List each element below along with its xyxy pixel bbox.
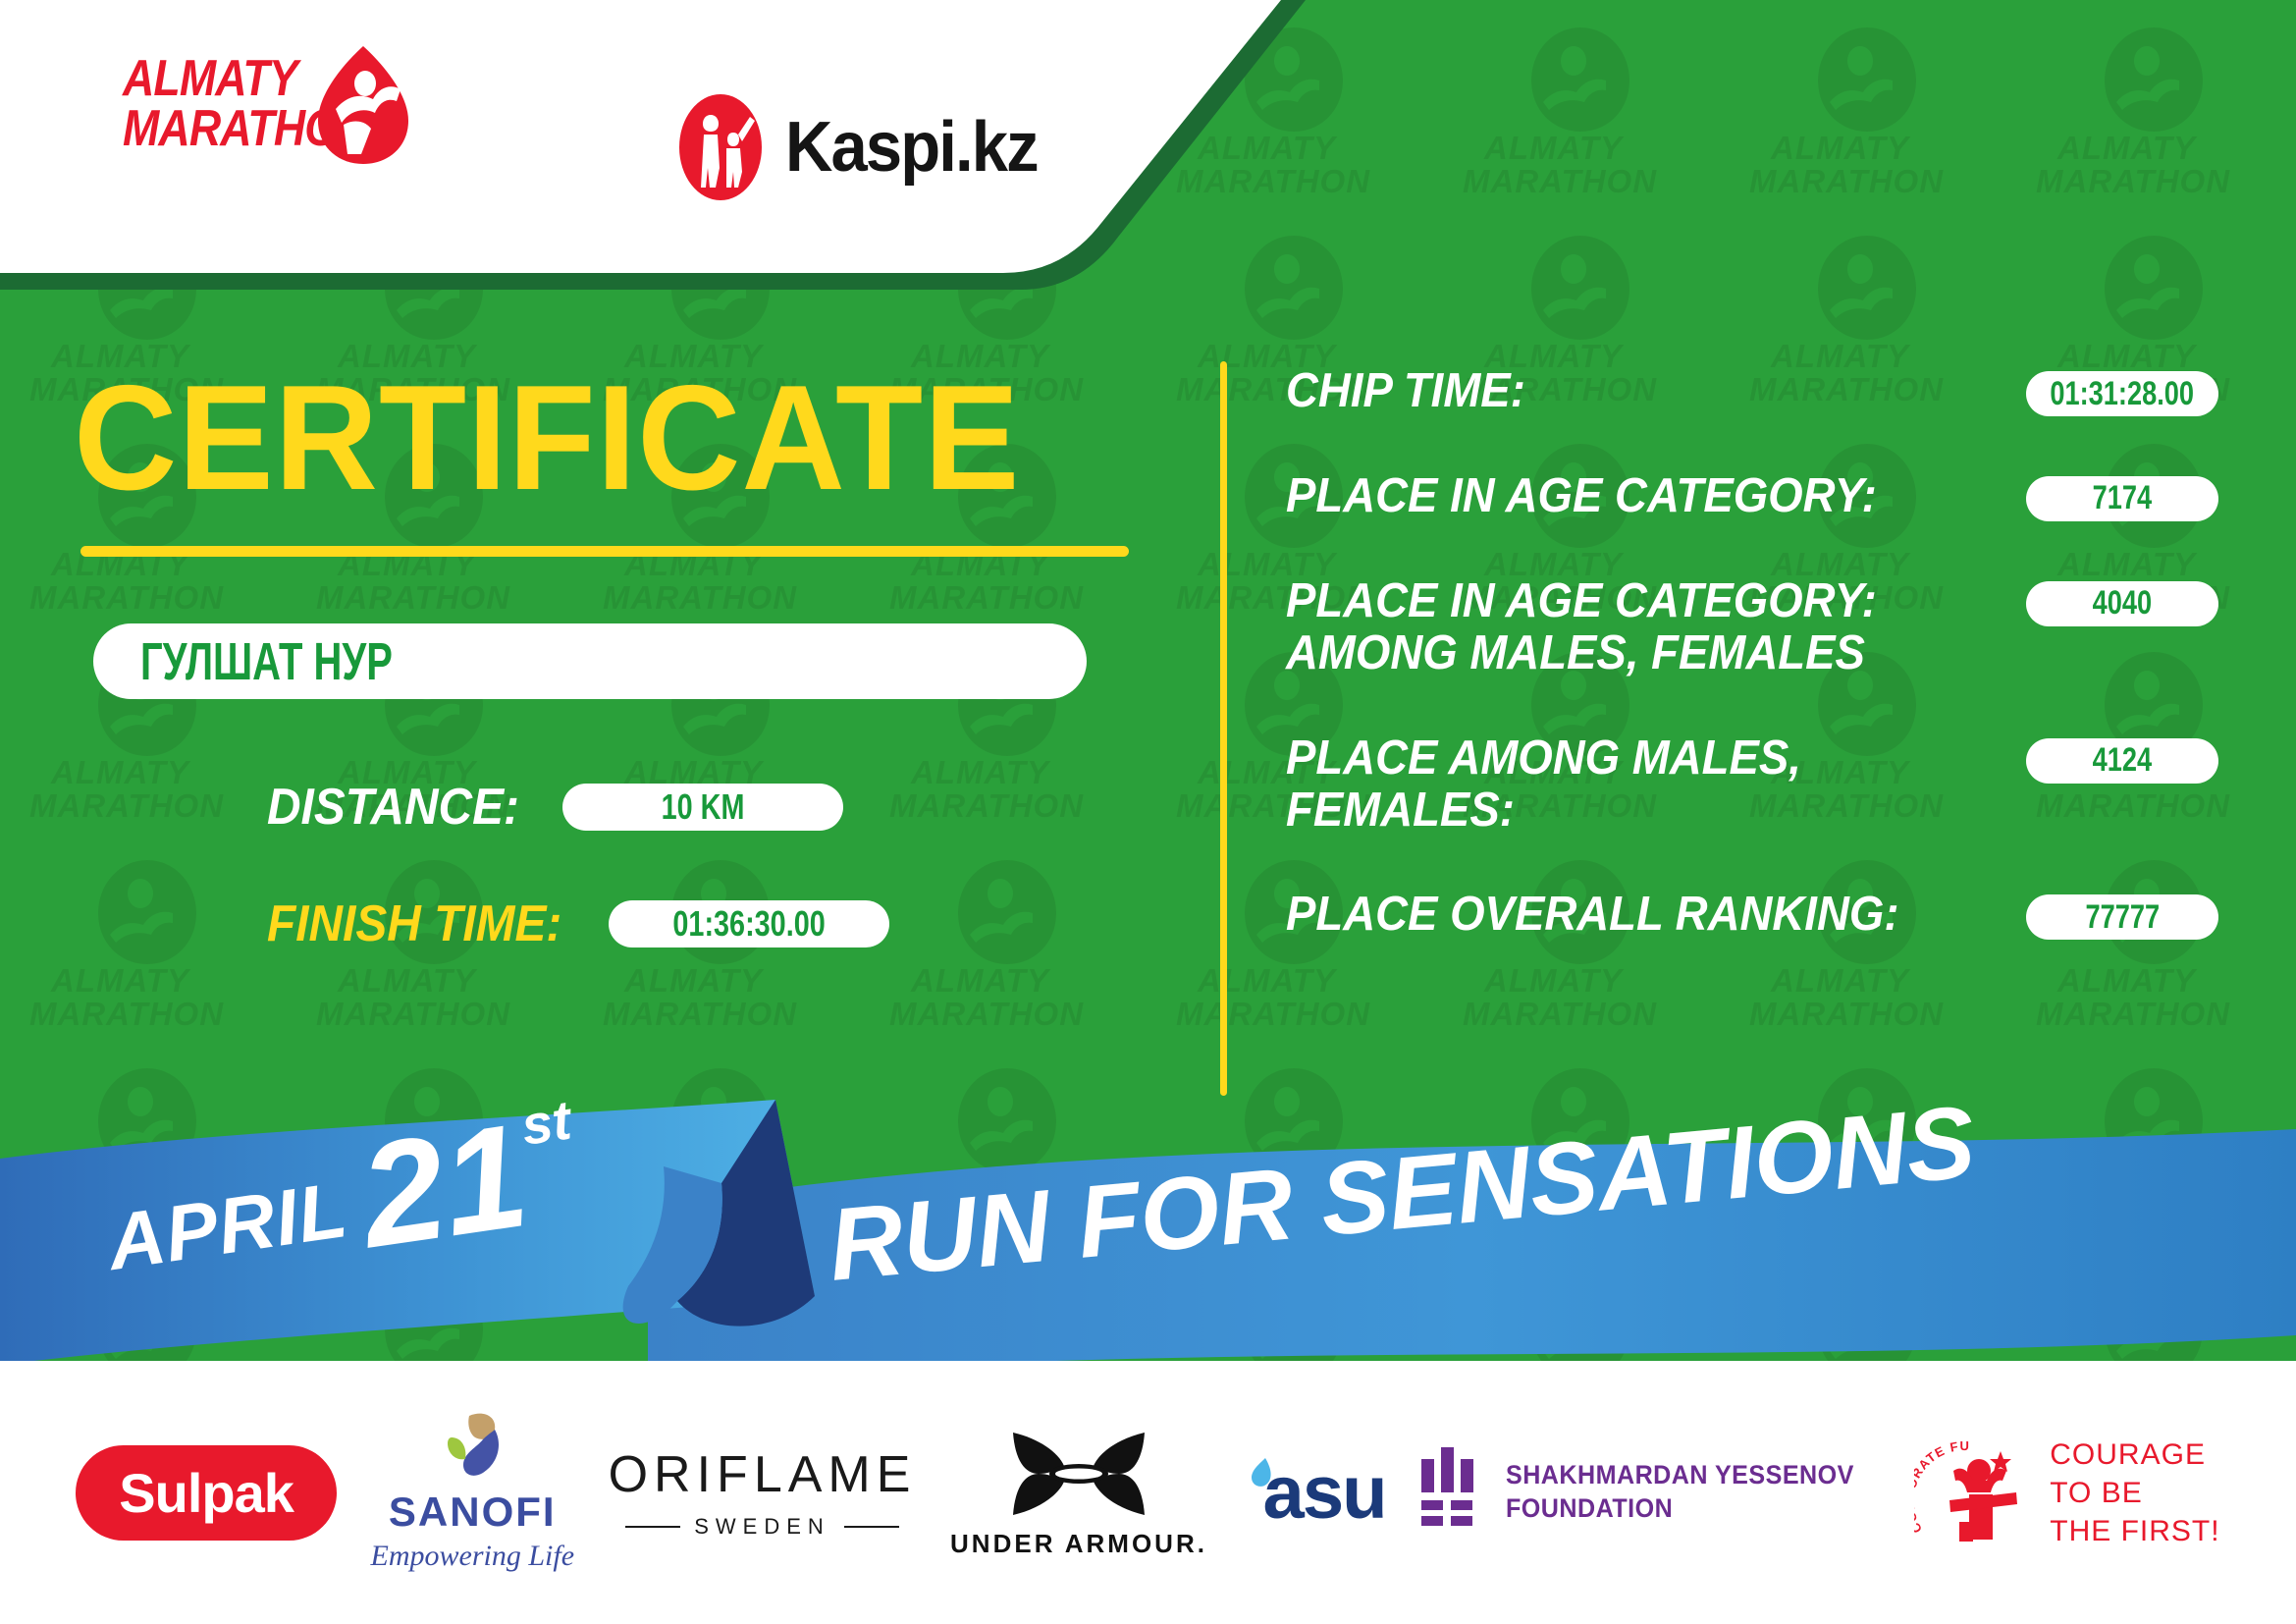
place-among-gender-value-pill: 4124 <box>2026 738 2218 784</box>
place-age-category-label: PLACE IN AGE CATEGORY: <box>1286 470 1877 522</box>
place-age-category-gender-label: PLACE IN AGE CATEGORY: AMONG MALES, FEMA… <box>1286 575 1925 679</box>
sponsor-courage-to-be-first: CORPORATE FUND COURAGE TO BE THE FIRST! <box>1914 1435 2219 1550</box>
place-age-category-gender-value-pill: 4040 <box>2026 581 2218 626</box>
event-day-ordinal: st <box>517 1087 575 1157</box>
distance-value-pill: 10 KM <box>562 784 843 831</box>
event-date: APRIL 21 st <box>96 1087 586 1294</box>
participant-name: ГУЛШАТ НУР <box>140 631 393 692</box>
runner-drop-icon <box>314 44 412 167</box>
sponsor-asu: asu <box>1242 1450 1386 1536</box>
oriflame-wordmark: ORIFLAME <box>609 1445 917 1504</box>
vertical-divider <box>1220 361 1227 1096</box>
sponsor-sulpak: Sulpak <box>76 1445 337 1541</box>
sanofi-icon <box>430 1412 514 1485</box>
event-slogan: RUN FOR SENSATIONS <box>825 1084 1980 1305</box>
yessenov-line1: SHAKHMARDAN YESSENOV <box>1506 1459 1854 1492</box>
stat-row: CHIP TIME: 01:31:28.00 <box>1286 365 2218 417</box>
stat-row: PLACE AMONG MALES, FEMALES: 4124 <box>1286 732 2218 837</box>
courage-wordmark: COURAGE TO BE THE FIRST! <box>2050 1435 2219 1550</box>
certificate-left-column: CERTIFICATE ГУЛШАТ НУР DISTANCE: 10 KM F… <box>0 324 1207 955</box>
courage-runner-icon: CORPORATE FUND <box>1914 1437 2034 1547</box>
sponsor-under-armour: UNDER ARMOUR. <box>950 1427 1207 1559</box>
oriflame-rule-right <box>844 1526 899 1528</box>
place-age-category-gender-value: 4040 <box>2093 584 2153 623</box>
svg-text:CORPORATE FUND: CORPORATE FUND <box>1914 1437 1970 1536</box>
sponsor-yessenov-foundation: SHAKHMARDAN YESSENOV FOUNDATION <box>1419 1447 1881 1538</box>
place-age-category-value: 7174 <box>2093 479 2153 517</box>
place-overall-label: PLACE OVERALL RANKING: <box>1286 889 1899 941</box>
certificate-canvas: ALMATY MARATHON ALMATY MARATHON <box>0 0 2296 1624</box>
distance-row: DISTANCE: 10 KM <box>267 776 1207 839</box>
oriflame-sweden-text: SWEDEN <box>694 1514 830 1540</box>
event-day: 21 <box>354 1114 534 1258</box>
sponsor-oriflame: ORIFLAME SWEDEN <box>609 1445 917 1540</box>
finish-time-row: FINISH TIME: 01:36:30.00 <box>267 893 1207 955</box>
asu-wordmark: asu <box>1263 1450 1386 1536</box>
title-underline-rule <box>80 546 1129 557</box>
yessenov-bars-icon <box>1419 1447 1484 1538</box>
distance-label: DISTANCE: <box>267 778 519 837</box>
place-among-gender-label: PLACE AMONG MALES, FEMALES: <box>1286 732 1925 837</box>
place-overall-value: 77777 <box>2085 898 2160 937</box>
courage-line1: COURAGE <box>2050 1435 2219 1474</box>
stat-row: PLACE IN AGE CATEGORY: 7174 <box>1286 470 2218 522</box>
finish-time-value: 01:36:30.00 <box>673 903 826 945</box>
results-stats-panel: CHIP TIME: 01:31:28.00 PLACE IN AGE CATE… <box>1286 365 2218 994</box>
yessenov-line2: FOUNDATION <box>1506 1492 1854 1526</box>
distance-value: 10 KM <box>662 786 745 828</box>
kaspi-logo: Kaspi.kz <box>677 93 1056 201</box>
sanofi-tagline: Empowering Life <box>371 1540 575 1573</box>
oriflame-subline: SWEDEN <box>625 1514 899 1540</box>
courage-line2: TO BE <box>2050 1474 2219 1512</box>
participant-name-field: ГУЛШАТ НУР <box>93 623 1087 699</box>
sponsor-footer: Sulpak SANOFI Empowering Life ORIFLAME S… <box>0 1361 2296 1624</box>
stat-row: PLACE OVERALL RANKING: 77777 <box>1286 889 2218 941</box>
page-title: CERTIFICATE <box>74 363 1162 513</box>
chip-time-value: 01:31:28.00 <box>2051 375 2195 413</box>
finish-time-label: FINISH TIME: <box>267 894 561 953</box>
courage-line3: THE FIRST! <box>2050 1512 2219 1550</box>
finish-time-value-pill: 01:36:30.00 <box>609 900 889 947</box>
place-overall-value-pill: 77777 <box>2026 894 2218 940</box>
almaty-marathon-logo: ALMATY MARATHON <box>123 54 408 154</box>
chip-time-label: CHIP TIME: <box>1286 365 1525 417</box>
under-armour-icon <box>1005 1427 1152 1521</box>
chip-time-value-pill: 01:31:28.00 <box>2026 371 2218 416</box>
sanofi-wordmark: SANOFI <box>389 1489 557 1536</box>
kaspi-wordmark: Kaspi.kz <box>785 107 1038 188</box>
event-month: APRIL <box>102 1164 353 1288</box>
place-among-gender-value: 4124 <box>2093 741 2153 780</box>
kaspi-family-icon <box>677 93 764 201</box>
oriflame-rule-left <box>625 1526 680 1528</box>
yessenov-wordmark: SHAKHMARDAN YESSENOV FOUNDATION <box>1506 1459 1854 1526</box>
sulpak-wordmark: Sulpak <box>119 1461 294 1525</box>
stat-row: PLACE IN AGE CATEGORY: AMONG MALES, FEMA… <box>1286 575 2218 679</box>
place-age-category-value-pill: 7174 <box>2026 476 2218 521</box>
under-armour-wordmark: UNDER ARMOUR. <box>950 1529 1207 1559</box>
sponsor-sanofi: SANOFI Empowering Life <box>371 1412 575 1573</box>
